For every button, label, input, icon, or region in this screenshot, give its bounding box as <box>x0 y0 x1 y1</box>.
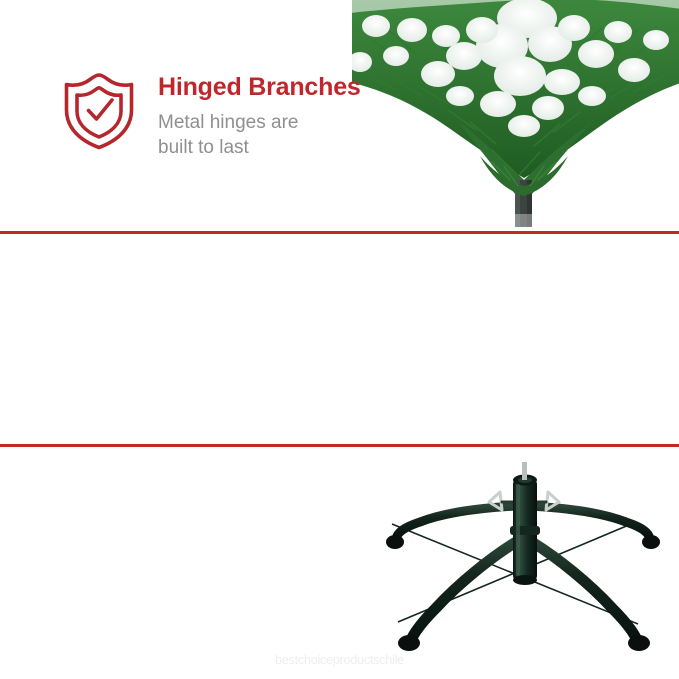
feature-panel-sturdy-base: Sturdy Base A reliable metal stand for y… <box>0 447 679 679</box>
feature-text-hinged-branches: Hinged Branches Metal hinges are built t… <box>158 73 361 160</box>
photo-tree-branches <box>352 0 679 231</box>
feature-panel-pvc-tips: PVC Tips Flame-retardant and easy to flu… <box>0 234 679 444</box>
watermark-text: bestchoiceproductschile <box>275 653 404 667</box>
photo-tree-stand <box>350 462 679 652</box>
shield-check-icon <box>62 72 136 150</box>
feature-title: Hinged Branches <box>158 73 361 103</box>
feature-panel-hinged-branches: Hinged Branches Metal hinges are built t… <box>0 0 679 231</box>
product-feature-infographic: Hinged Branches Metal hinges are built t… <box>0 0 679 679</box>
watermark: bestchoiceproductschile <box>0 653 679 667</box>
feature-description: Metal hinges are built to last <box>158 110 361 160</box>
